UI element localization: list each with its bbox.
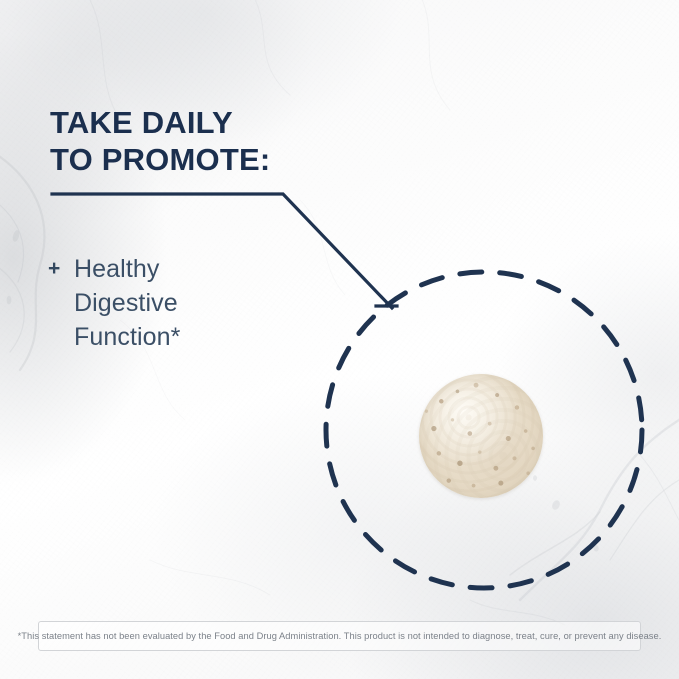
benefit-item: + Healthy Digestive Function* [48,252,181,354]
infographic-canvas: TAKE DAILY TO PROMOTE: + Healthy Digesti… [0,0,679,679]
benefit-label: Healthy Digestive Function* [74,252,181,354]
plus-bullet-icon: + [48,252,74,285]
disclaimer-box: *This statement has not been evaluated b… [38,621,641,651]
tablet-speckle-texture [419,374,543,498]
supplement-tablet [419,374,543,498]
disclaimer-text: *This statement has not been evaluated b… [18,631,662,641]
